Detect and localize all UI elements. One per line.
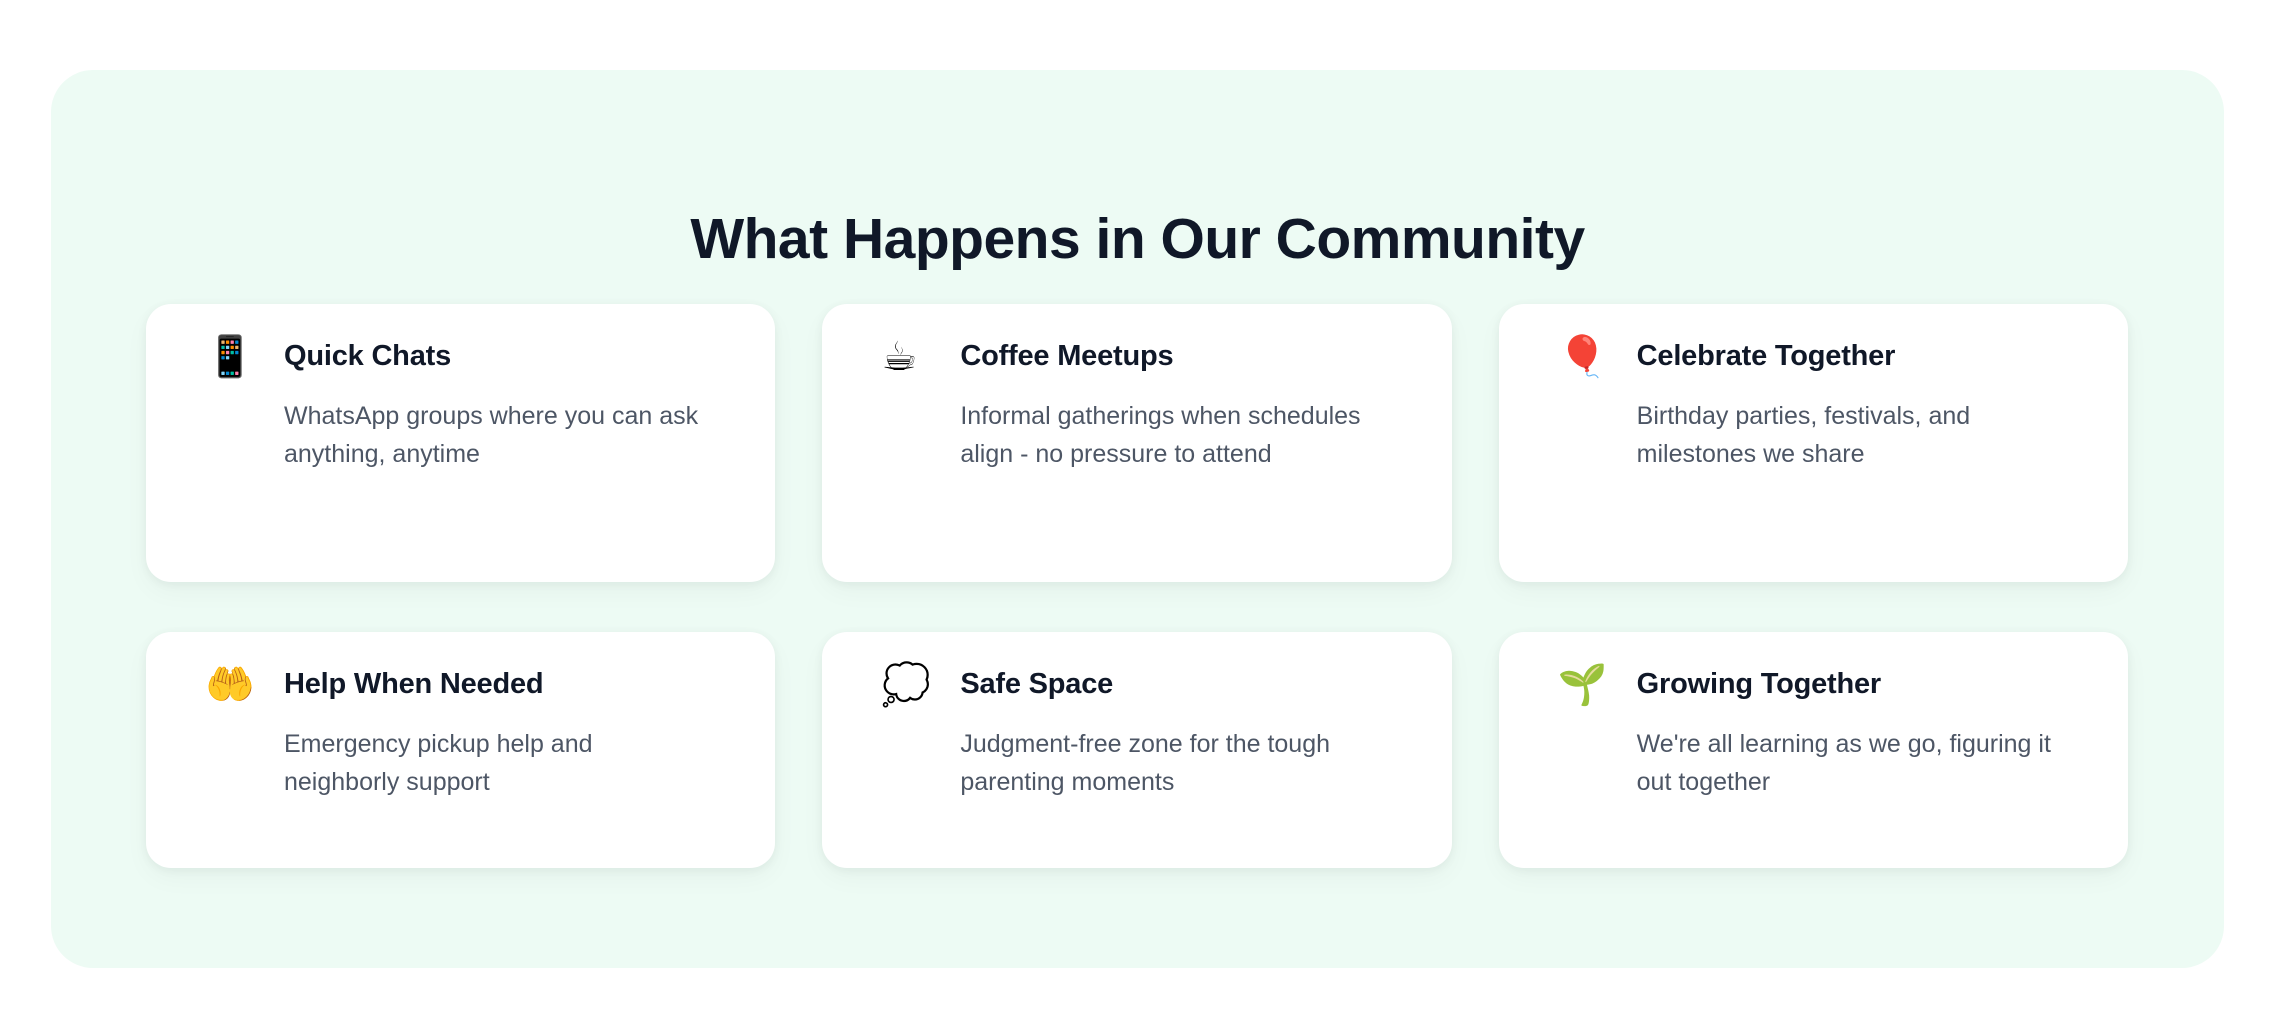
card-description: Birthday parties, festivals, and milesto… — [1637, 397, 2067, 473]
list-item[interactable]: 💭 Safe Space Judgment-free zone for the … — [822, 632, 1451, 868]
list-item[interactable]: 🎈 Celebrate Together Birthday parties, f… — [1499, 304, 2128, 582]
list-item[interactable]: 🤲 Help When Needed Emergency pickup help… — [146, 632, 775, 868]
card-header: 🎈 Celebrate Together — [1558, 329, 2074, 385]
feature-card-grid: 📱 Quick Chats WhatsApp groups where you … — [146, 304, 2128, 868]
card-header: 🤲 Help When Needed — [205, 657, 721, 713]
palms-up-together-icon: 🤲 — [205, 665, 247, 705]
balloon-icon: 🎈 — [1558, 337, 1600, 377]
thought-balloon-icon: 💭 — [881, 665, 923, 705]
card-title: Help When Needed — [284, 668, 543, 701]
card-title: Celebrate Together — [1637, 340, 1896, 373]
card-title: Growing Together — [1637, 668, 1881, 701]
card-header: 💭 Safe Space — [881, 657, 1397, 713]
page-root: What Happens in Our Community 📱 Quick Ch… — [0, 0, 2272, 1014]
card-description: Judgment-free zone for the tough parenti… — [960, 725, 1390, 801]
community-highlights-panel: What Happens in Our Community 📱 Quick Ch… — [51, 70, 2224, 968]
page-title: What Happens in Our Community — [51, 208, 2224, 272]
card-description: Emergency pickup help and neighborly sup… — [284, 725, 714, 801]
card-title: Quick Chats — [284, 340, 451, 373]
card-header: 📱 Quick Chats — [205, 329, 721, 385]
mobile-phone-icon: 📱 — [205, 337, 247, 377]
list-item[interactable]: ☕ Coffee Meetups Informal gatherings whe… — [822, 304, 1451, 582]
card-description: Informal gatherings when schedules align… — [960, 397, 1390, 473]
card-title: Safe Space — [960, 668, 1113, 701]
card-title: Coffee Meetups — [960, 340, 1173, 373]
seedling-icon: 🌱 — [1558, 665, 1600, 705]
card-description: We're all learning as we go, figuring it… — [1637, 725, 2067, 801]
card-header: 🌱 Growing Together — [1558, 657, 2074, 713]
list-item[interactable]: 🌱 Growing Together We're all learning as… — [1499, 632, 2128, 868]
card-header: ☕ Coffee Meetups — [881, 329, 1397, 385]
hot-beverage-icon: ☕ — [881, 337, 923, 377]
list-item[interactable]: 📱 Quick Chats WhatsApp groups where you … — [146, 304, 775, 582]
card-description: WhatsApp groups where you can ask anythi… — [284, 397, 714, 473]
